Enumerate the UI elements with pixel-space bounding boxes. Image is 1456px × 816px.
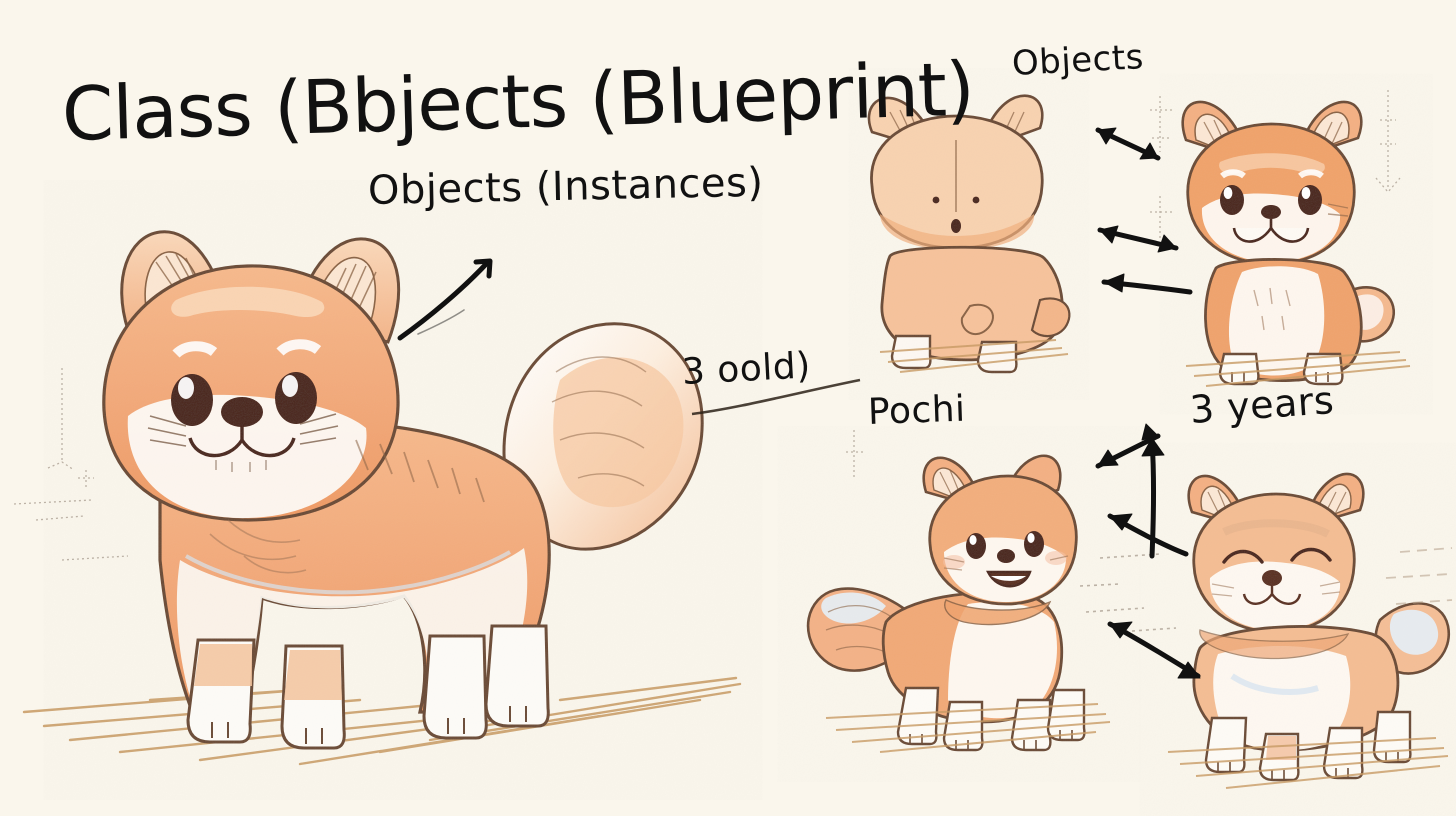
puppy-standing-smiling (808, 456, 1110, 752)
double-arrow-upper (1098, 128, 1158, 159)
label-objects: Objects (1011, 37, 1145, 84)
puppy-standing-eyes-closed (1168, 474, 1452, 788)
single-arrow-up-left (1110, 514, 1186, 554)
illustration-canvas: Class (Bbjects (Blueprint) Objects (Inst… (0, 0, 1456, 816)
page-subtitle: Objects (Instances) (368, 160, 764, 214)
puppy-sitting-front (1183, 102, 1410, 386)
puppy-rear-view (869, 96, 1069, 372)
double-arrow-down-right (1110, 622, 1200, 678)
single-arrow-leftward (1104, 274, 1190, 292)
label-age: 3 oold) (681, 345, 812, 393)
label-pochi: Pochi (867, 389, 966, 433)
curved-pointer-stroke (400, 261, 490, 338)
large-shiba-dog (104, 232, 702, 748)
double-arrow-middle (1100, 226, 1176, 252)
ground-hatching-main (24, 678, 740, 764)
